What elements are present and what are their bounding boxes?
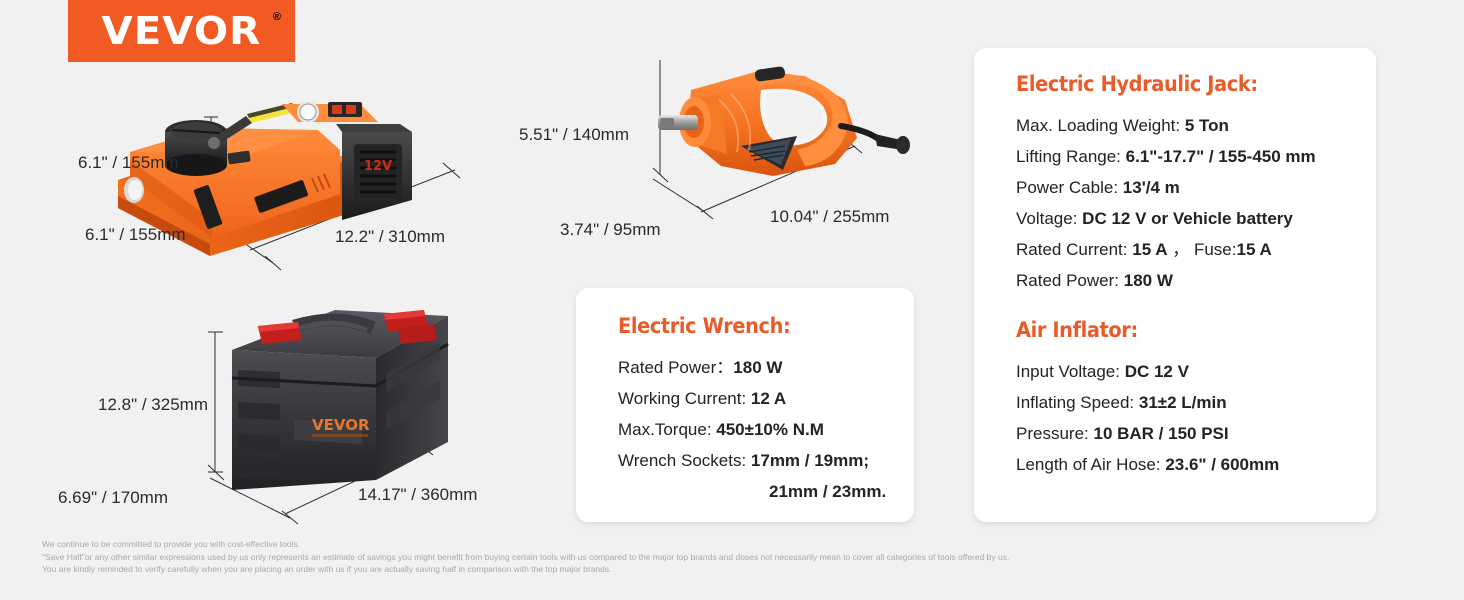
electric-wrench-title: Electric Wrench: bbox=[618, 314, 890, 338]
spec-value: 5 Ton bbox=[1185, 116, 1229, 135]
disclaimer-line-2: "Save Half"or any other similar expressi… bbox=[42, 551, 1362, 564]
spec-inflating-speed: Inflating Speed: 31±2 L/min bbox=[1016, 387, 1376, 418]
spec-label: Rated Power： bbox=[618, 358, 733, 377]
spec-value: 12 A bbox=[751, 389, 786, 408]
case-figure: VEVOR 12.8" / 325mm 6.69" / 170mm 14.17"… bbox=[80, 300, 540, 525]
wrench-width-label: 10.04" / 255mm bbox=[770, 207, 889, 227]
spec-input-voltage: Input Voltage: DC 12 V bbox=[1016, 356, 1376, 387]
spec-label: Length of Air Hose: bbox=[1016, 455, 1165, 474]
spec-value: 15 A bbox=[1132, 240, 1167, 259]
spec-label: Max.Torque: bbox=[618, 420, 716, 439]
disclaimer-line-1: We continue to be committed to provide y… bbox=[42, 538, 1362, 551]
spec-label: Wrench Sockets: bbox=[618, 451, 751, 470]
electric-wrench-spec-list: Rated Power：180 W Working Current: 12 A … bbox=[618, 352, 914, 507]
jack-spec-list: Max. Loading Weight: 5 Ton Lifting Range… bbox=[1016, 110, 1376, 296]
case-width-label: 14.17" / 360mm bbox=[358, 485, 477, 505]
spec-value-fuse: 15 A bbox=[1236, 240, 1271, 259]
electric-wrench-spec-card: Electric Wrench: Rated Power：180 W Worki… bbox=[576, 288, 914, 522]
air-inflator-title: Air Inflator: bbox=[1016, 318, 1347, 342]
spec-max-torque: Max.Torque: 450±10% N.M bbox=[618, 414, 914, 445]
product-spec-infographic: VEVOR ® bbox=[0, 0, 1464, 600]
spec-value: 180 W bbox=[1124, 271, 1173, 290]
spec-value: 13'/4 m bbox=[1123, 178, 1180, 197]
spec-rated-power: Rated Power: 180 W bbox=[1016, 265, 1376, 296]
wrench-figure: 5.51" / 140mm 3.74" / 95mm 10.04" / 255m… bbox=[505, 60, 945, 255]
registered-trademark-icon: ® bbox=[273, 11, 281, 23]
svg-text:12V: 12V bbox=[364, 159, 392, 174]
spec-wrench-sockets: Wrench Sockets: 17mm / 19mm; 21mm / 23mm… bbox=[618, 445, 914, 507]
spec-rated-power: Rated Power：180 W bbox=[618, 352, 914, 383]
air-inflator-spec-list: Input Voltage: DC 12 V Inflating Speed: … bbox=[1016, 356, 1376, 480]
jack-depth-label: 6.1" / 155mm bbox=[85, 225, 186, 245]
vevor-logo: VEVOR ® bbox=[68, 0, 295, 62]
spec-value: 31±2 L/min bbox=[1139, 393, 1227, 412]
jack-and-inflator-spec-card: Electric Hydraulic Jack: Max. Loading We… bbox=[974, 48, 1376, 522]
spec-label: Lifting Range: bbox=[1016, 147, 1126, 166]
svg-text:VEVOR: VEVOR bbox=[312, 416, 370, 434]
spec-label: Input Voltage: bbox=[1016, 362, 1125, 381]
spec-power-cable: Power Cable: 13'/4 m bbox=[1016, 172, 1376, 203]
spec-label: Power Cable: bbox=[1016, 178, 1123, 197]
spec-value: 10 BAR / 150 PSI bbox=[1093, 424, 1228, 443]
spec-pressure: Pressure: 10 BAR / 150 PSI bbox=[1016, 418, 1376, 449]
case-depth-label: 6.69" / 170mm bbox=[58, 488, 168, 508]
spec-value: 180 W bbox=[733, 358, 782, 377]
spec-working-current: Working Current: 12 A bbox=[618, 383, 914, 414]
spec-value: 450±10% N.M bbox=[716, 420, 824, 439]
wrench-height-label: 5.51" / 140mm bbox=[519, 125, 629, 145]
spec-label-fuse: ， Fuse: bbox=[1168, 240, 1237, 259]
spec-label: Max. Loading Weight: bbox=[1016, 116, 1185, 135]
spec-label: Pressure: bbox=[1016, 424, 1093, 443]
spec-rated-current-and-fuse: Rated Current: 15 A ， Fuse:15 A bbox=[1016, 234, 1376, 265]
wrench-depth-label: 3.74" / 95mm bbox=[560, 220, 661, 240]
spec-label: Voltage: bbox=[1016, 209, 1082, 228]
spec-lifting-range: Lifting Range: 6.1"-17.7" / 155-450 mm bbox=[1016, 141, 1376, 172]
case-height-label: 12.8" / 325mm bbox=[98, 395, 208, 415]
spec-voltage: Voltage: DC 12 V or Vehicle battery bbox=[1016, 203, 1376, 234]
jack-figure: 12V 6.1" / 155mm 6.1" / 155mm 12.2" / 31… bbox=[60, 60, 540, 290]
spec-air-hose-length: Length of Air Hose: 23.6" / 600mm bbox=[1016, 449, 1376, 480]
jack-height-label: 6.1" / 155mm bbox=[78, 153, 179, 173]
disclaimer: We continue to be committed to provide y… bbox=[42, 538, 1362, 576]
spec-label: Inflating Speed: bbox=[1016, 393, 1139, 412]
spec-label: Rated Power: bbox=[1016, 271, 1124, 290]
logo-wordmark: VEVOR bbox=[102, 9, 262, 53]
spec-max-loading-weight: Max. Loading Weight: 5 Ton bbox=[1016, 110, 1376, 141]
disclaimer-line-3: You are kindly reminded to verify carefu… bbox=[42, 563, 1362, 576]
spec-value: DC 12 V or Vehicle battery bbox=[1082, 209, 1293, 228]
spec-label: Rated Current: bbox=[1016, 240, 1132, 259]
jack-width-label: 12.2" / 310mm bbox=[335, 227, 445, 247]
spec-value: 23.6" / 600mm bbox=[1165, 455, 1279, 474]
spec-value: 17mm / 19mm; bbox=[751, 451, 869, 470]
spec-value: 6.1"-17.7" / 155-450 mm bbox=[1126, 147, 1316, 166]
spec-value-continued: 21mm / 23mm. bbox=[618, 476, 914, 507]
electric-hydraulic-jack-title: Electric Hydraulic Jack: bbox=[1016, 72, 1347, 96]
spec-label: Working Current: bbox=[618, 389, 751, 408]
spec-value: DC 12 V bbox=[1125, 362, 1189, 381]
